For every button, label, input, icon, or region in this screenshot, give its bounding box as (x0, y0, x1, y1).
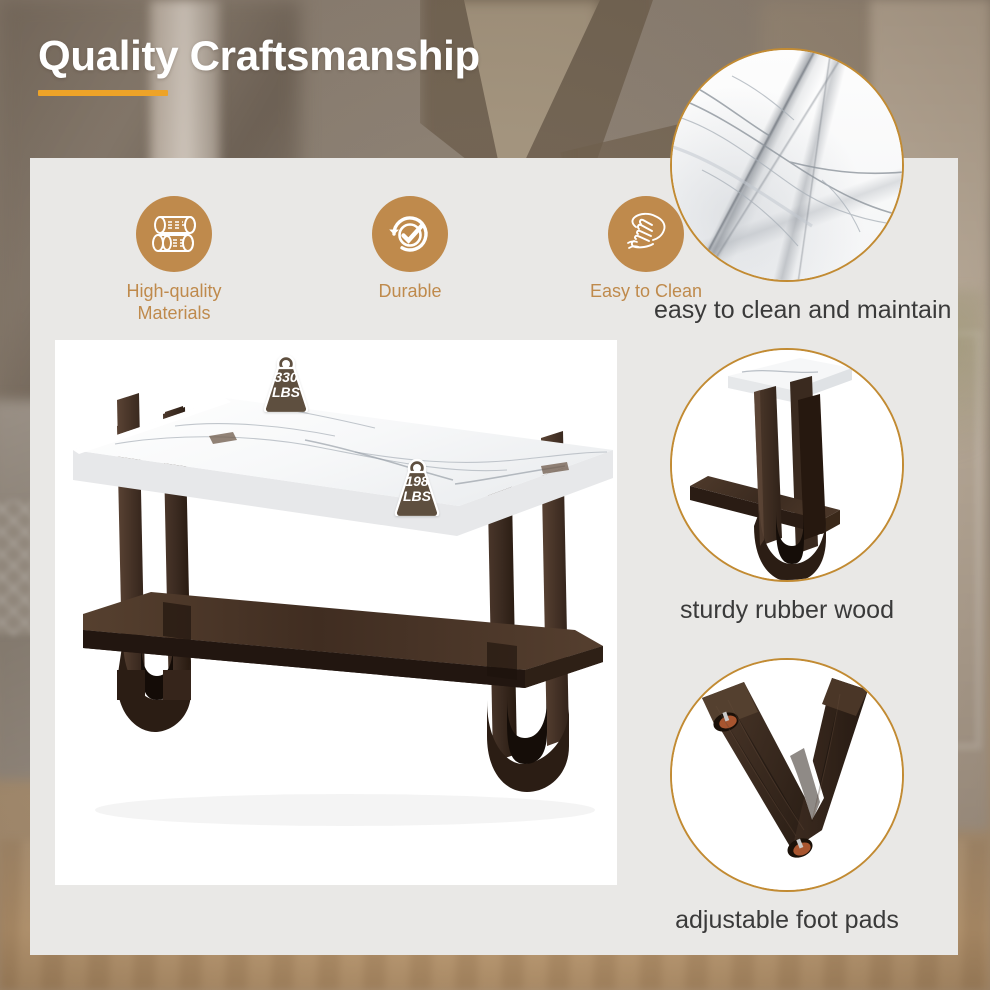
weight-value: 330 (259, 370, 313, 385)
detail-image-foot-pads (670, 658, 904, 892)
weight-badge-tabletop: 330 LBS (259, 354, 313, 412)
feature-durable: Durable (336, 196, 484, 324)
feature-icon-circle (136, 196, 212, 272)
leg-and-shelf-closeup (672, 350, 904, 582)
weight-value: 198 (390, 474, 444, 489)
feature-icon-circle (372, 196, 448, 272)
product-image-panel: 330 LBS 198 LBS (55, 340, 617, 885)
logs-icon (150, 212, 198, 256)
feature-badge-row: High-quality Materials Durable (100, 196, 720, 324)
detail-image-marble-texture (670, 48, 904, 282)
detail-easy-to-clean: easy to clean and maintain (670, 48, 920, 325)
page-title-block: Quality Craftsmanship (38, 34, 480, 96)
page-title: Quality Craftsmanship (38, 34, 480, 78)
refresh-check-icon (386, 210, 434, 258)
weight-unit: LBS (390, 489, 444, 504)
v-leg-foot-pads-closeup (672, 660, 904, 892)
feature-label: Durable (336, 281, 484, 303)
feature-label-line: Durable (336, 281, 484, 303)
weight-badge-lower-shelf: 198 LBS (390, 458, 444, 516)
detail-image-rubber-wood-leg (670, 348, 904, 582)
title-underline-rule (38, 90, 168, 96)
detail-sturdy-rubber-wood: sturdy rubber wood (670, 348, 904, 625)
weight-badge-text: 330 LBS (259, 370, 313, 399)
console-table-illustration (55, 340, 617, 885)
feature-high-quality-materials: High-quality Materials (100, 196, 248, 324)
weight-badge-text: 198 LBS (390, 474, 444, 503)
feature-label: High-quality Materials (100, 281, 248, 324)
weight-unit: LBS (259, 385, 313, 400)
marble-veins (672, 50, 904, 282)
detail-adjustable-foot-pads: adjustable foot pads (670, 658, 912, 935)
detail-caption: adjustable foot pads (662, 906, 912, 935)
detail-caption: easy to clean and maintain (654, 296, 920, 325)
feature-label-line: Materials (100, 303, 248, 325)
detail-caption: sturdy rubber wood (670, 596, 904, 625)
feature-label-line: High-quality (100, 281, 248, 303)
hand-wiping-cloth-icon (622, 211, 670, 257)
